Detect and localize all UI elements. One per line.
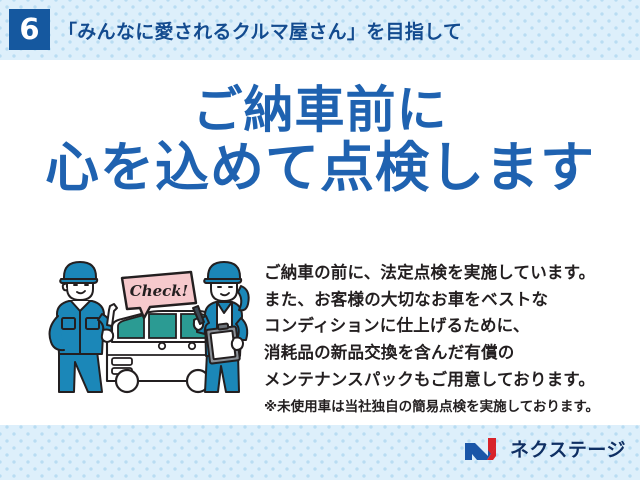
check-bubble-label: Check! (130, 282, 189, 300)
footer-band: ネクステージ (0, 425, 640, 480)
body-copy: ご納車の前に、法定点検を実施しています。 また、お客様の大切なお車をベストな コ… (264, 260, 630, 419)
content-panel: ご納車前に 心を込めて点検します (0, 60, 640, 425)
header-title: 「みんなに愛されるクルマ屋さん」を目指して (58, 0, 462, 60)
brand-name: ネクステージ (510, 435, 626, 462)
section-number-badge: 6 (9, 9, 50, 50)
body-section: Check! (0, 250, 640, 410)
mechanics-illustration: Check! (48, 258, 260, 394)
body-line-2: また、お客様の大切なお車をベストな (264, 287, 630, 314)
section-number: 6 (19, 15, 39, 44)
body-line-4: 消耗品の新品交換を含んだ有償の (264, 340, 630, 367)
body-footnote: ※未使用車は当社独自の簡易点検を実施しております。 (264, 396, 630, 419)
body-line-3: コンディションに仕上げるために、 (264, 313, 630, 340)
header-band: 6 「みんなに愛されるクルマ屋さん」を目指して (0, 0, 640, 60)
brand-logo: ネクステージ (463, 435, 626, 462)
advertisement-page: 6 「みんなに愛されるクルマ屋さん」を目指して ご納車前に 心を込めて点検します (0, 0, 640, 480)
body-line-5: メンテナンスパックもご用意しております。 (264, 367, 630, 394)
headline-line-1: ご納車前に (0, 82, 640, 138)
page-title: ご納車前に 心を込めて点検します (0, 82, 640, 198)
mechanics-illustration-svg: Check! (48, 258, 260, 394)
nextage-n-logo-icon (463, 436, 503, 462)
headline-line-2: 心を込めて点検します (0, 138, 640, 198)
body-line-1: ご納車の前に、法定点検を実施しています。 (264, 260, 630, 287)
